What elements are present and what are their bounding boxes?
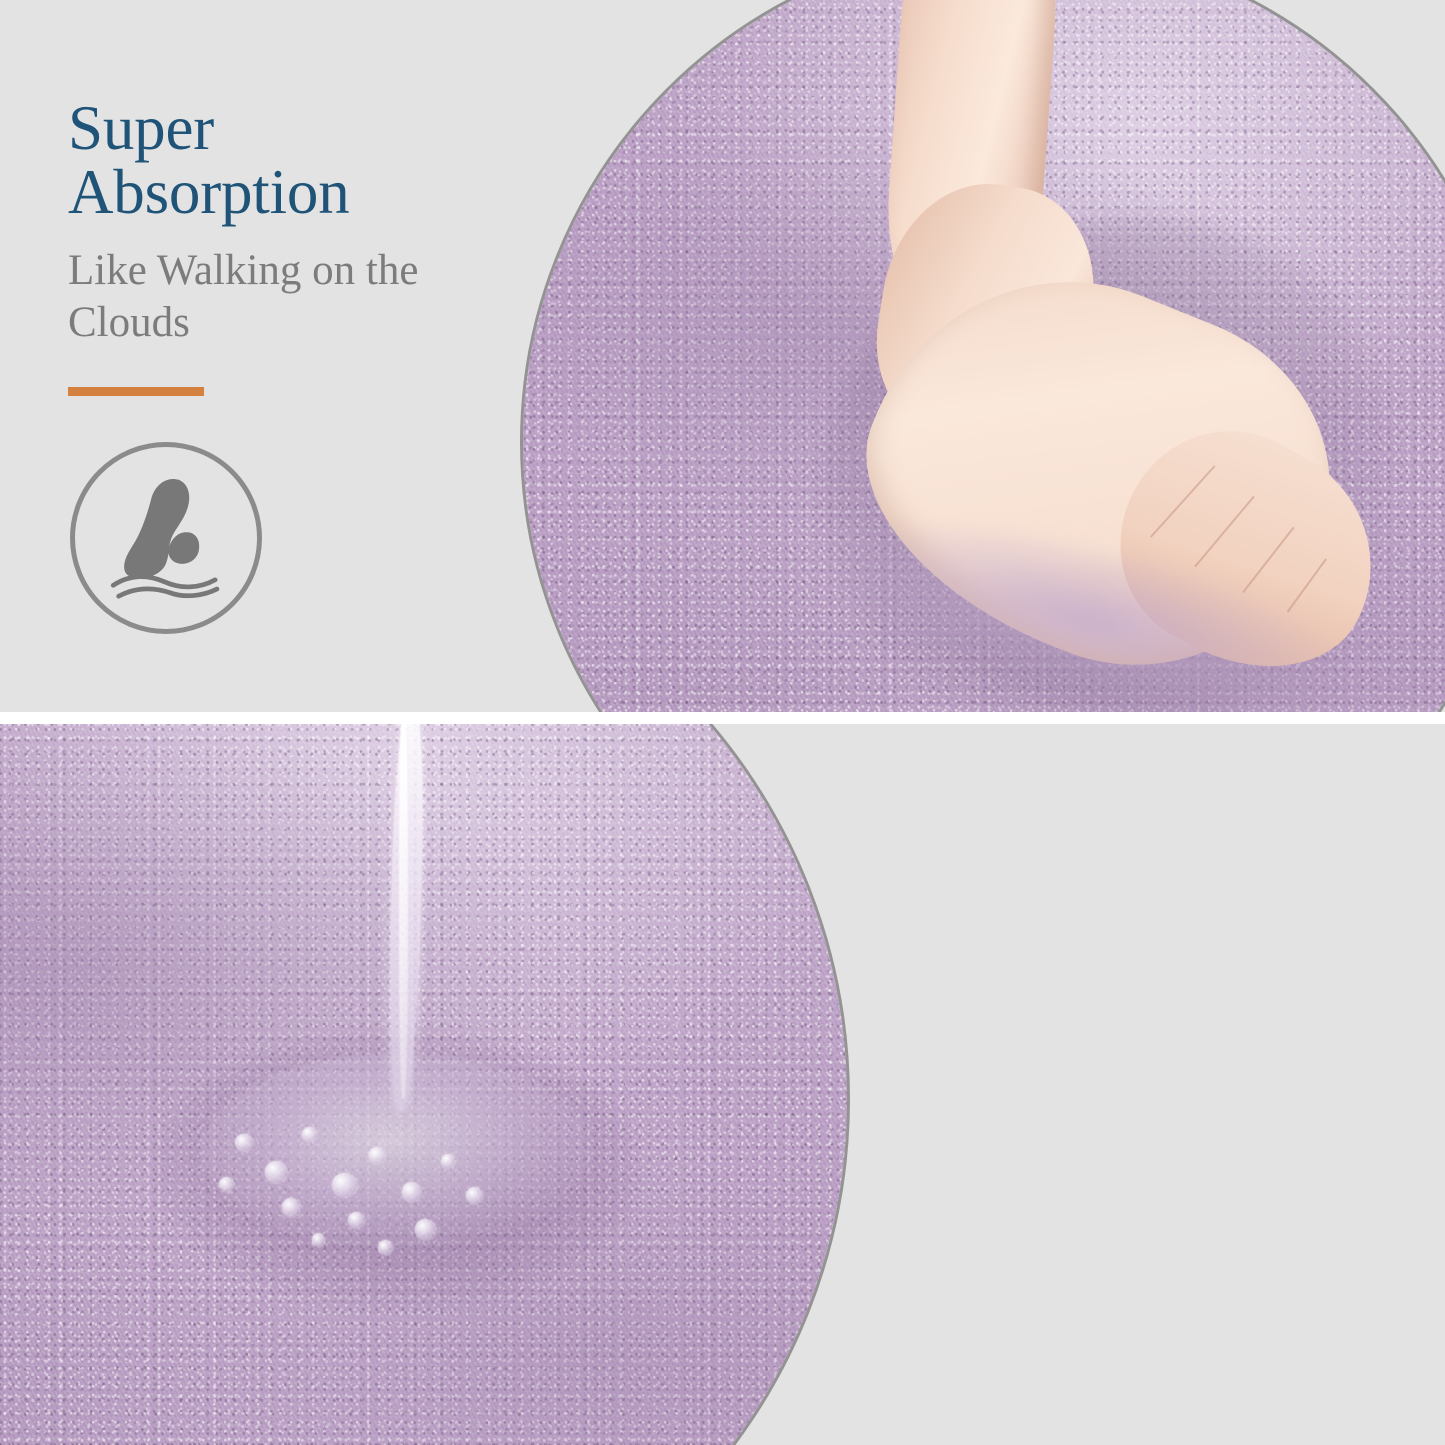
water-stream-highlight [399,724,408,1099]
foot-pressing-into-rug-photo [520,0,1445,712]
accent-divider [68,387,204,396]
water-illustration [0,724,847,1445]
feature-panel-bottom: Super Absorption Prevents Water Stains o… [0,724,1445,1445]
feature-subtitle: Like Walking on the Clouds [68,245,488,350]
foot-on-wave-icon [70,442,262,634]
water-poured-on-rug-photo [0,724,850,1445]
page-title: Super Absorption [68,96,488,225]
feature-text-top: Super Absorption Like Walking on the Clo… [68,96,488,396]
feature-panel-top: Super Absorption Like Walking on the Clo… [0,0,1445,712]
product-feature-infographic: Super Absorption Like Walking on the Clo… [0,0,1445,1445]
foot-illustration [523,0,1445,712]
